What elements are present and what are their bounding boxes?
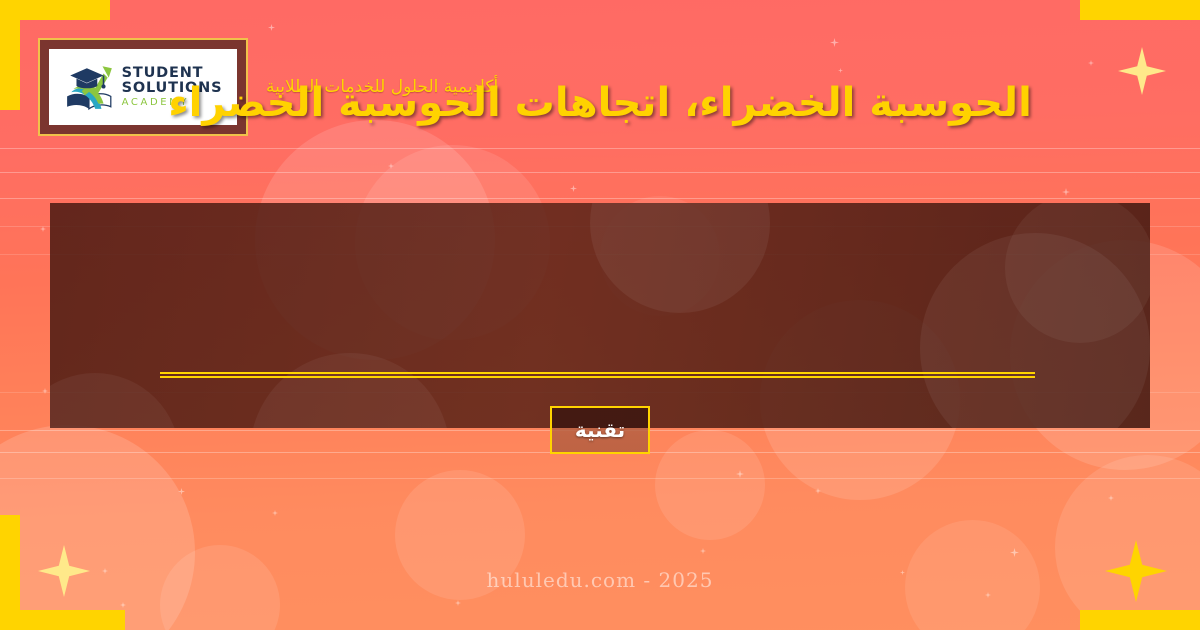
sparkle-icon — [838, 68, 843, 73]
sparkle-icon — [736, 470, 744, 478]
corner-bracket-bottom-right-icon — [1080, 610, 1200, 630]
slide-canvas: STUDENT SOLUTIONS ACADEMY أكاديمية الحلو… — [0, 0, 1200, 630]
sparkle-icon — [1108, 495, 1114, 501]
decor-rule — [0, 148, 1200, 149]
sparkle-icon — [388, 163, 394, 169]
title-card — [50, 203, 1150, 428]
decor-bubble — [1055, 455, 1200, 630]
sparkle-icon — [1088, 60, 1094, 66]
category-badge[interactable]: تقنية — [550, 406, 650, 454]
divider-line — [160, 376, 1035, 378]
sparkle-icon — [1062, 188, 1070, 196]
decor-rule — [0, 478, 1200, 479]
sparkle-icon — [700, 548, 706, 554]
category-badge-label: تقنية — [575, 418, 625, 442]
sparkle-icon — [178, 488, 185, 495]
decor-bubble — [655, 430, 765, 540]
decor-bubble — [250, 353, 450, 428]
sparkle-icon — [830, 38, 839, 47]
sparkle-icon — [455, 600, 461, 606]
sparkle-icon — [985, 592, 991, 598]
title-divider — [160, 372, 1035, 377]
decor-rule — [0, 172, 1200, 173]
sparkle-icon — [268, 24, 275, 31]
sparkle-icon — [42, 388, 48, 394]
footer-watermark: hululedu.com - 2025 — [0, 568, 1200, 592]
page-title: الحوسبة الخضراء، اتجاهات الحوسبة الخضراء — [0, 78, 1200, 128]
decor-bubble — [50, 373, 180, 428]
sparkle-icon — [1010, 548, 1019, 557]
sparkle-icon — [815, 488, 821, 494]
decor-rule — [0, 198, 1200, 199]
divider-line — [160, 372, 1035, 374]
sparkle-icon — [272, 510, 278, 516]
decor-bubble — [0, 425, 195, 630]
sparkle-icon — [570, 185, 577, 192]
corner-bracket-top-right-icon — [1080, 0, 1200, 20]
sparkle-icon — [120, 602, 126, 608]
decor-bubble — [590, 203, 770, 313]
